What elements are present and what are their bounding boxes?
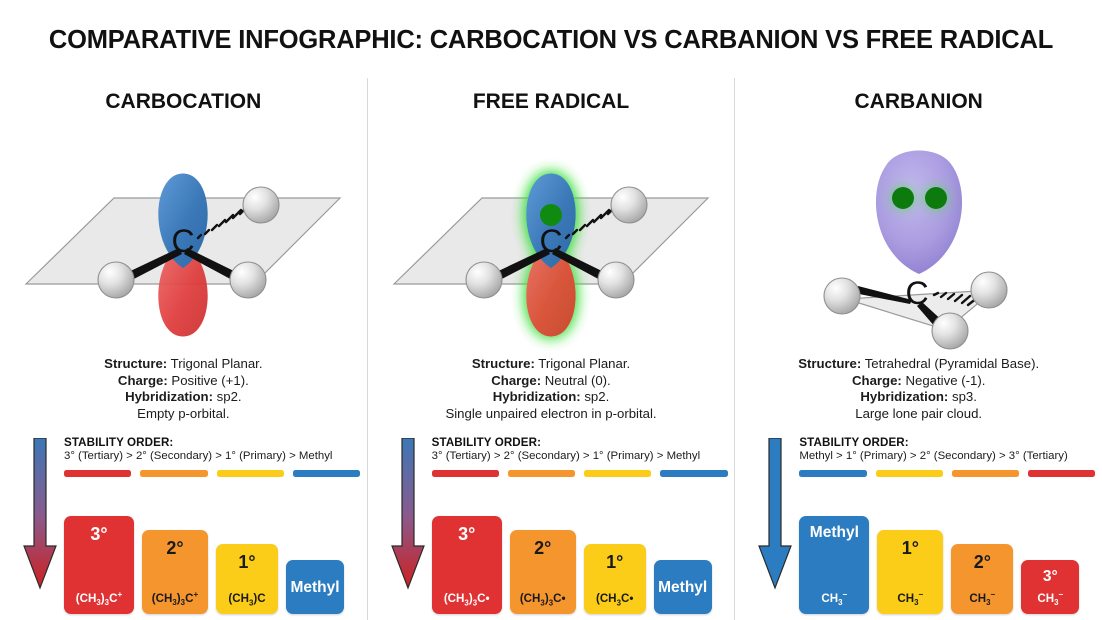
tile-degree: Methyl (290, 580, 339, 596)
legend-swatch-3 (660, 470, 727, 477)
tile-formula: (CH3)3C+ (76, 591, 122, 607)
tile-formula: CH3− (821, 591, 847, 607)
carbocation-diagram: C (0, 120, 367, 352)
prop-label: Charge: (852, 373, 902, 388)
prop-label: Charge: (118, 373, 168, 388)
infographic-page: COMPARATIVE INFOGRAPHIC: CARBOCATION VS … (0, 0, 1102, 620)
column-title: CARBANION (735, 90, 1102, 114)
arrow-shape (759, 438, 791, 588)
column-carbocation: CARBOCATION (0, 78, 367, 620)
prop-value: Trigonal Planar. (538, 356, 630, 371)
prop-note: Large lone pair cloud. (735, 406, 1102, 423)
legend-swatch-2 (952, 470, 1019, 477)
tile-formula: (CH3)3C• (520, 593, 566, 607)
stability-tile[interactable]: Methyl (286, 560, 344, 614)
tile-degree: 2° (166, 539, 183, 557)
page-title: COMPARATIVE INFOGRAPHIC: CARBOCATION VS … (0, 26, 1102, 55)
stability-tile[interactable]: Methyl (654, 560, 712, 614)
prop-value: sp2. (217, 389, 242, 404)
legend-swatch-0 (64, 470, 131, 477)
electron-dot-right (925, 187, 947, 209)
stability-tile[interactable]: 2° (CH3)3C• (510, 530, 576, 614)
legend-swatch-0 (432, 470, 499, 477)
stability-tile[interactable]: 1° CH3− (877, 530, 943, 614)
carbon-atom-label: C (172, 223, 195, 259)
tile-degree: 1° (238, 553, 255, 571)
legend-swatch-1 (876, 470, 943, 477)
stability-text: STABILITY ORDER: 3° (Tertiary) > 2° (Sec… (432, 436, 732, 462)
prop-value: sp3. (952, 389, 977, 404)
stability-tile[interactable]: 3° (CH3)3C• (432, 516, 502, 614)
prop-label: Structure: (798, 356, 861, 371)
prop-value: sp2. (584, 389, 609, 404)
comparison-columns: CARBOCATION (0, 78, 1102, 620)
hydrogen-sphere-right (598, 262, 634, 298)
hydrogen-sphere-left (466, 262, 502, 298)
prop-note: Empty p-orbital. (0, 406, 367, 423)
arrow-shape (392, 438, 424, 588)
prop-label: Hybridization: (860, 389, 948, 404)
prop-label: Structure: (472, 356, 535, 371)
carbon-atom-label: C (539, 223, 562, 259)
carbanion-description: Structure: Tetrahedral (Pyramidal Base).… (735, 356, 1102, 422)
tile-formula: (CH3)C (228, 593, 265, 607)
hydrogen-sphere-right (230, 262, 266, 298)
legend-swatch-1 (508, 470, 575, 477)
legend-swatch-3 (1028, 470, 1095, 477)
stability-order: 3° (Tertiary) > 2° (Secondary) > 1° (Pri… (64, 450, 364, 462)
stability-tile[interactable]: 2° (CH3)3C+ (142, 530, 208, 614)
prop-label: Structure: (104, 356, 167, 371)
trigonal-planar-svg: C (18, 120, 348, 352)
stability-text: STABILITY ORDER: 3° (Tertiary) > 2° (Sec… (64, 436, 364, 462)
stability-arrow-down (390, 438, 426, 590)
stability-arrow-down (22, 438, 58, 590)
prop-label: Hybridization: (125, 389, 213, 404)
stability-order: Methyl > 1° (Primary) > 2° (Secondary) >… (799, 450, 1099, 462)
hydrogen-sphere-left (824, 278, 860, 314)
tile-formula: CH3− (969, 591, 995, 607)
carbocation-description: Structure: Trigonal Planar. Charge: Posi… (0, 356, 367, 422)
stability-tile[interactable]: Methyl CH3− (799, 516, 869, 614)
prop-label: Hybridization: (493, 389, 581, 404)
tile-degree: Methyl (658, 580, 707, 596)
tile-degree: 3° (458, 525, 475, 543)
prop-note: Single unpaired electron in p-orbital. (368, 406, 735, 423)
stability-heading: STABILITY ORDER: (799, 436, 1099, 449)
tile-degree: 2° (974, 553, 991, 571)
stability-tile[interactable]: 3° CH3− (1021, 560, 1079, 614)
free-radical-stability: STABILITY ORDER: 3° (Tertiary) > 2° (Sec… (368, 436, 735, 620)
free-radical-diagram: C (368, 120, 735, 352)
legend-swatch-3 (293, 470, 360, 477)
column-title: FREE RADICAL (368, 90, 735, 114)
hydrogen-sphere-front (932, 313, 968, 349)
electron-dot-left (892, 187, 914, 209)
hydrogen-sphere-back (243, 187, 279, 223)
prop-value: Tetrahedral (Pyramidal Base). (865, 356, 1039, 371)
hydrogen-sphere-left (98, 262, 134, 298)
stability-tile[interactable]: 3° (CH3)3C+ (64, 516, 134, 614)
stability-tiles: 3° (CH3)3C• 2° (CH3)3C• 1° (CH3C• Methyl (432, 486, 732, 614)
tile-degree: 2° (534, 539, 551, 557)
column-title: CARBOCATION (0, 90, 367, 114)
free-radical-description: Structure: Trigonal Planar. Charge: Neut… (368, 356, 735, 422)
column-carbanion: CARBANION (734, 78, 1102, 620)
prop-value: Neutral (0). (545, 373, 611, 388)
arrow-shape (24, 438, 56, 588)
legend-swatch-1 (140, 470, 207, 477)
trigonal-planar-radical-svg: C (386, 120, 716, 352)
carbocation-stability: STABILITY ORDER: 3° (Tertiary) > 2° (Sec… (0, 436, 367, 620)
stability-legend (432, 470, 728, 477)
legend-swatch-2 (584, 470, 651, 477)
stability-heading: STABILITY ORDER: (432, 436, 732, 449)
stability-tile[interactable]: 1° (CH3C• (584, 544, 646, 614)
stability-tiles: Methyl CH3− 1° CH3− 2° CH3− 3° CH3− (799, 486, 1099, 614)
stability-tiles: 3° (CH3)3C+ 2° (CH3)3C+ 1° (CH3)C Methyl (64, 486, 364, 614)
lone-pair-cloud (876, 151, 962, 275)
stability-heading: STABILITY ORDER: (64, 436, 364, 449)
stability-legend (64, 470, 360, 477)
prop-label: Charge: (491, 373, 541, 388)
stability-tile[interactable]: 1° (CH3)C (216, 544, 278, 614)
prop-value: Trigonal Planar. (171, 356, 263, 371)
stability-order: 3° (Tertiary) > 2° (Secondary) > 1° (Pri… (432, 450, 732, 462)
stability-text: STABILITY ORDER: Methyl > 1° (Primary) >… (799, 436, 1099, 462)
hydrogen-sphere-back (611, 187, 647, 223)
pyramidal-svg: C (754, 120, 1084, 352)
tile-degree: 1° (606, 553, 623, 571)
legend-swatch-2 (217, 470, 284, 477)
carbon-atom-label: C (905, 275, 928, 311)
tile-degree: Methyl (810, 525, 859, 541)
carbanion-diagram: C (735, 120, 1102, 352)
prop-value: Positive (+1). (171, 373, 248, 388)
column-free-radical: FREE RADICAL (367, 78, 735, 620)
tile-formula: (CH3C• (596, 593, 633, 607)
prop-value: Negative (-1). (905, 373, 985, 388)
tile-degree: 3° (1043, 569, 1058, 585)
tile-formula: (CH3)3C• (444, 593, 490, 607)
tile-formula: CH3− (897, 591, 923, 607)
stability-arrow-down (757, 438, 793, 590)
tile-degree: 3° (90, 525, 107, 543)
hydrogen-sphere-right (971, 272, 1007, 308)
tile-formula: CH3− (1037, 591, 1063, 607)
tile-formula: (CH3)3C+ (152, 591, 198, 607)
stability-legend (799, 470, 1095, 477)
carbanion-stability: STABILITY ORDER: Methyl > 1° (Primary) >… (735, 436, 1102, 620)
legend-swatch-0 (799, 470, 866, 477)
tile-degree: 1° (902, 539, 919, 557)
stability-tile[interactable]: 2° CH3− (951, 544, 1013, 614)
